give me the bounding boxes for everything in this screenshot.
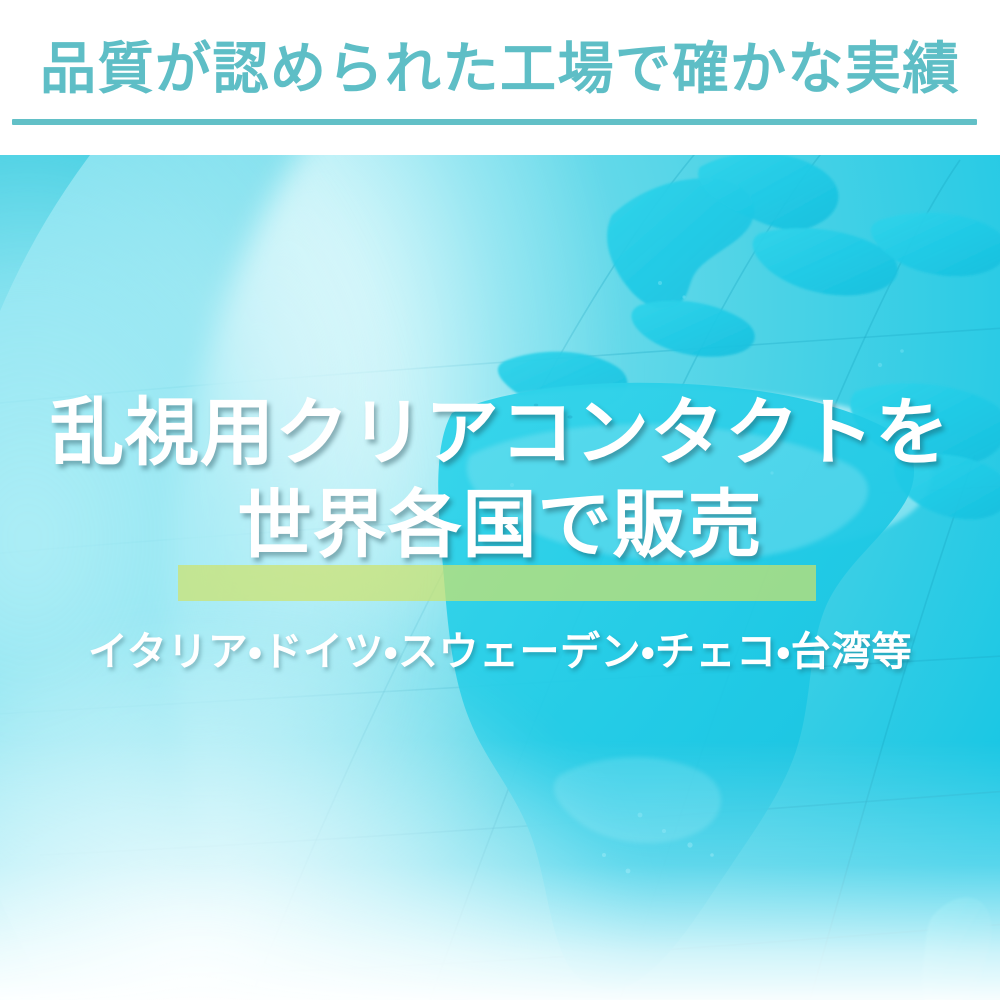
globe-photo: 乱視用クリアコンタクトを 世界各国で販売 イタリア・ドイツ・スウェーデン・チェコ… <box>0 155 1000 1000</box>
header-underline-rule <box>12 119 977 125</box>
hero-headline-line1: 乱視用クリアコンタクトを <box>50 391 950 474</box>
header-title: 品質が認められた工場で確かな実績 <box>0 38 1000 100</box>
hero-headline-line2: 世界各国で販売 <box>0 479 1000 571</box>
hero-subtitle: イタリア・ドイツ・スウェーデン・チェコ・台湾等 <box>0 627 1000 677</box>
hero-text-overlay: 乱視用クリアコンタクトを 世界各国で販売 イタリア・ドイツ・スウェーデン・チェコ… <box>0 155 1000 1000</box>
hero-headline: 乱視用クリアコンタクトを 世界各国で販売 <box>0 387 1000 571</box>
header-band: 品質が認められた工場で確かな実績 <box>0 0 1000 155</box>
promo-banner: 品質が認められた工場で確かな実績 <box>0 0 1000 1000</box>
